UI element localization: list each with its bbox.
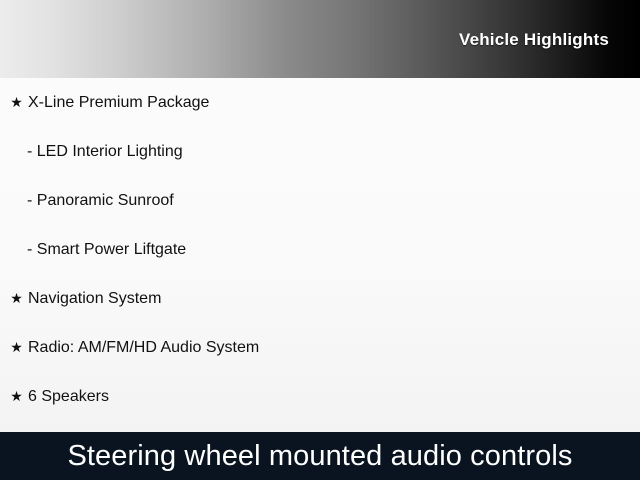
list-item-label: - LED Interior Lighting bbox=[27, 127, 183, 176]
list-item: ★ 6 Speakers bbox=[0, 372, 640, 421]
star-icon: ★ bbox=[9, 78, 24, 127]
list-item: ★ Radio: AM/FM/HD Audio System bbox=[0, 323, 640, 372]
list-item: - LED Interior Lighting bbox=[0, 127, 640, 176]
feature-list: ★ X-Line Premium Package - LED Interior … bbox=[0, 78, 640, 421]
list-item: ★ X-Line Premium Package bbox=[0, 78, 640, 127]
star-icon: ★ bbox=[9, 274, 24, 323]
list-item-label: 6 Speakers bbox=[28, 372, 109, 421]
header-banner: Vehicle Highlights bbox=[0, 0, 640, 78]
list-item-label: X-Line Premium Package bbox=[28, 78, 209, 127]
list-item-label: Radio: AM/FM/HD Audio System bbox=[28, 323, 259, 372]
list-item: - Panoramic Sunroof bbox=[0, 176, 640, 225]
footer-caption-bar: Steering wheel mounted audio controls bbox=[0, 432, 640, 480]
footer-caption-text: Steering wheel mounted audio controls bbox=[67, 440, 572, 473]
list-item-label: - Smart Power Liftgate bbox=[27, 225, 186, 274]
vehicle-highlights-slide: Vehicle Highlights ★ X-Line Premium Pack… bbox=[0, 0, 640, 480]
star-icon: ★ bbox=[9, 323, 24, 372]
page-title: Vehicle Highlights bbox=[459, 30, 609, 50]
list-item: ★ Navigation System bbox=[0, 274, 640, 323]
list-item: - Smart Power Liftgate bbox=[0, 225, 640, 274]
list-item-label: Navigation System bbox=[28, 274, 161, 323]
star-icon: ★ bbox=[9, 372, 24, 421]
list-item-label: - Panoramic Sunroof bbox=[27, 176, 174, 225]
